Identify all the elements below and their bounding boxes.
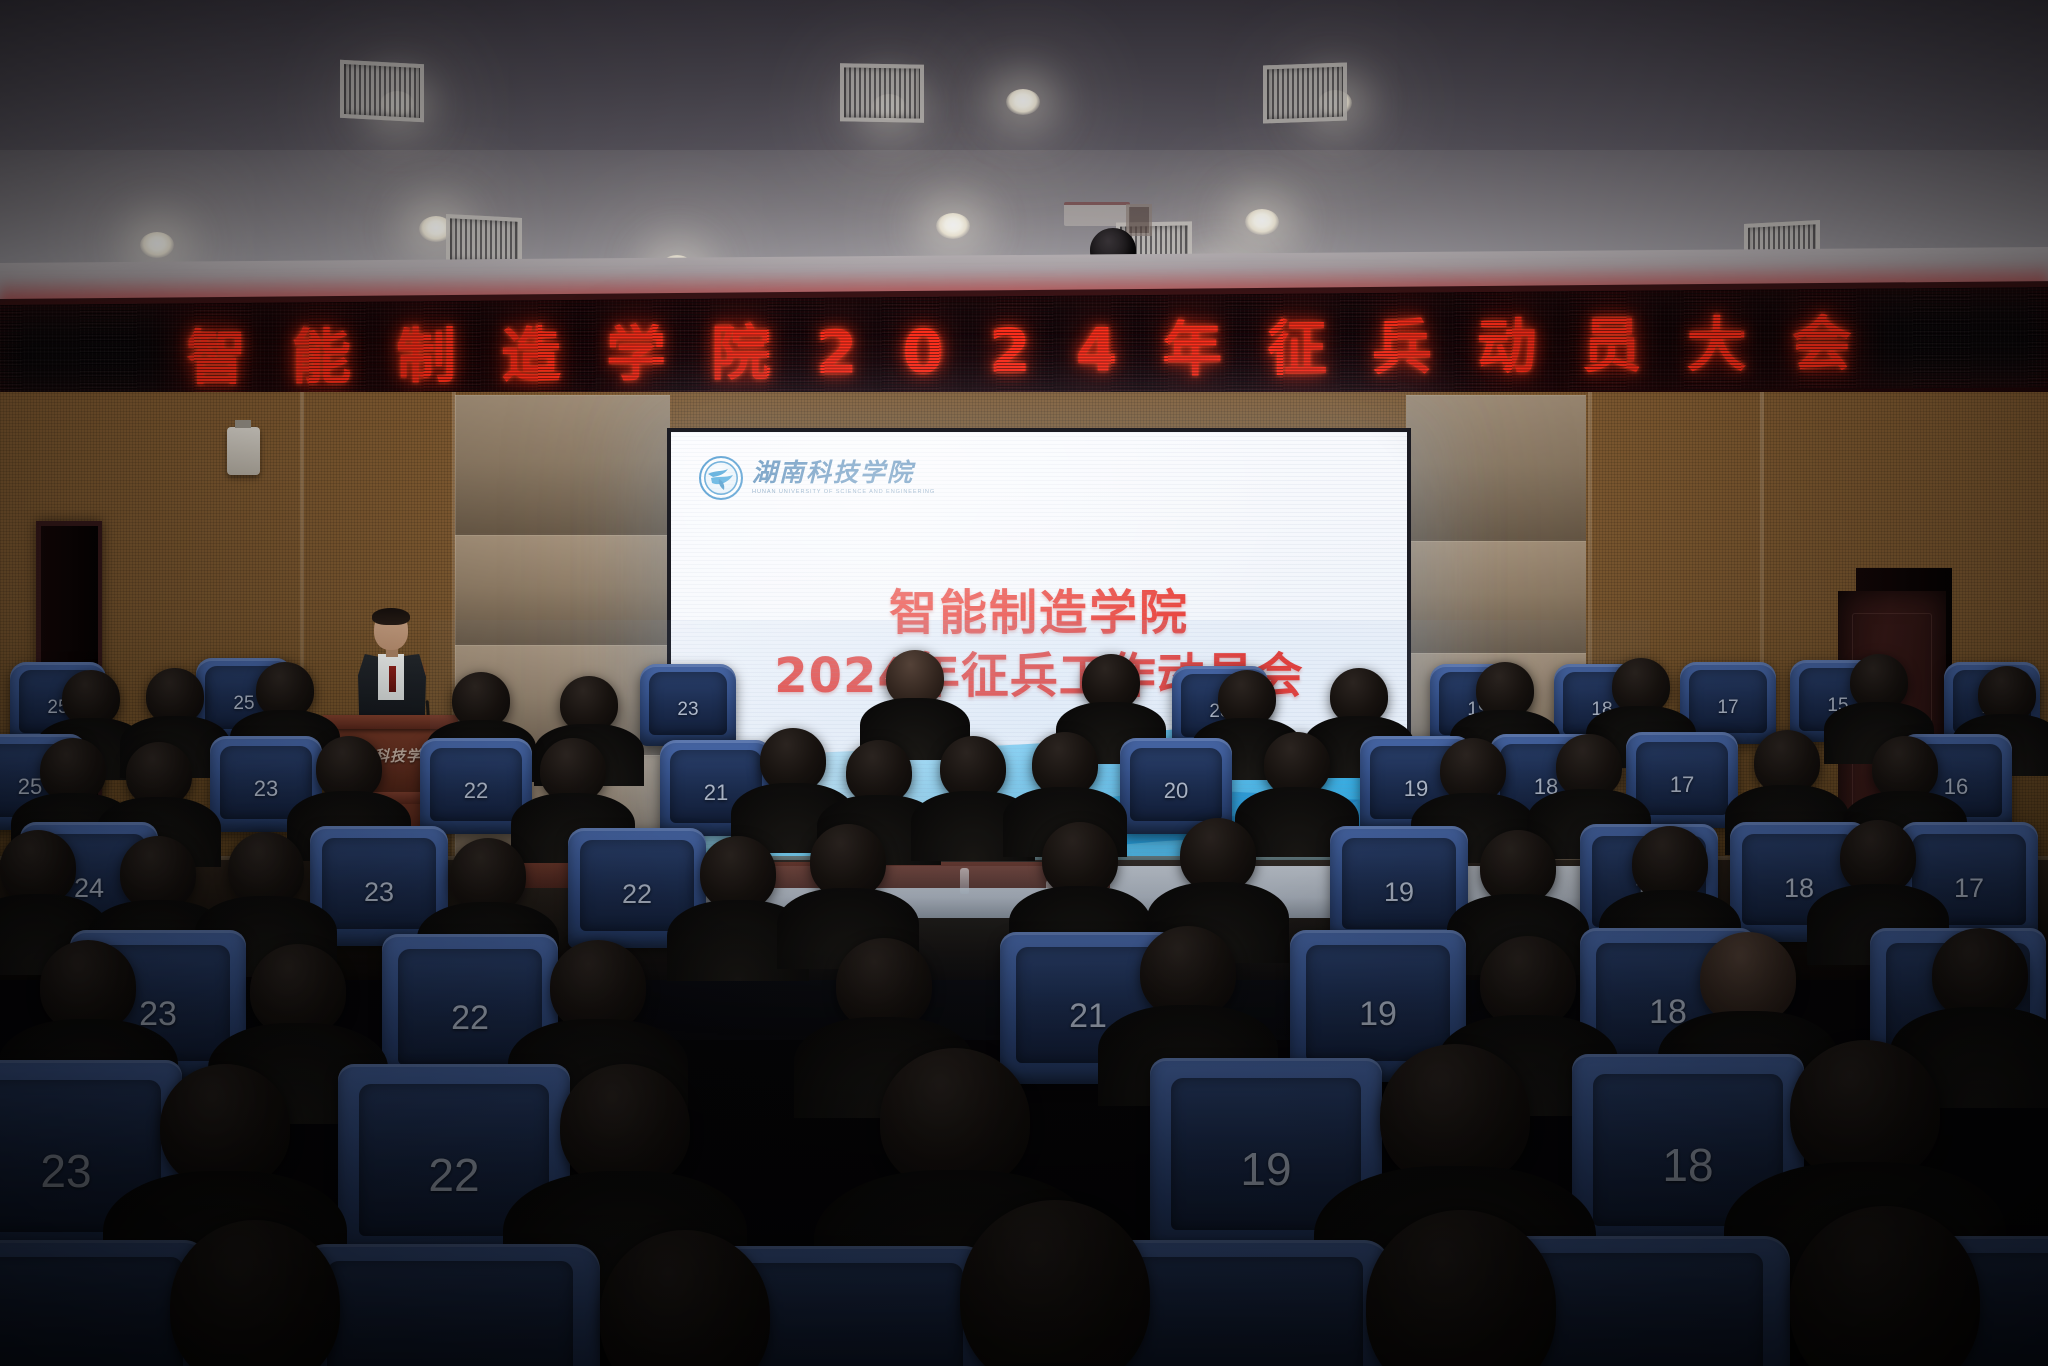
audience-head (452, 672, 510, 728)
audience-head (1140, 926, 1236, 1018)
audience-head (1872, 736, 1938, 800)
downlight-icon (1006, 89, 1040, 115)
audience-head (1480, 936, 1576, 1028)
audience-head (1840, 820, 1916, 894)
seat-number: 22 (382, 1001, 558, 1035)
seat-number: 22 (568, 881, 706, 908)
audience-head (886, 650, 944, 706)
wall-panel (1406, 541, 1586, 653)
audience-head (1476, 662, 1534, 718)
seat-number: 23 (310, 879, 448, 906)
audience-head (1330, 668, 1388, 724)
audience-head (146, 668, 204, 724)
audience-head (550, 940, 646, 1032)
audience-head (1790, 1040, 1940, 1182)
audience-head (810, 824, 886, 898)
ceiling-slab (0, 0, 2048, 150)
audience-head (940, 736, 1006, 800)
audience-head (1042, 822, 1118, 896)
downlight-icon (140, 232, 174, 258)
audience-head (1264, 732, 1330, 796)
audience-head (40, 940, 136, 1032)
slide-title-line1: 智能制造学院 (671, 582, 1407, 645)
crest-bird-glyph (706, 467, 736, 491)
audience-head (1082, 654, 1140, 710)
audience-head (1932, 928, 2028, 1020)
downlight-icon (1245, 209, 1279, 235)
table-row[interactable]: 23 (640, 664, 736, 746)
university-logo-text: 湖南科技学院 HUNAN UNIVERSITY OF SCIENCE AND E… (752, 461, 935, 495)
audience-head (160, 1064, 290, 1188)
ceiling-air-vent (340, 60, 424, 122)
seat-number: 23 (640, 700, 736, 719)
camera-junction-box (1126, 204, 1152, 236)
audience-head (846, 740, 912, 804)
audience-head (120, 836, 196, 910)
seat-number: 22 (420, 780, 532, 802)
university-logo: 湖南科技学院 HUNAN UNIVERSITY OF SCIENCE AND E… (699, 456, 935, 500)
ceiling-air-vent (1263, 63, 1347, 124)
audience-head (256, 662, 314, 718)
audience-head (62, 670, 120, 726)
audience-head (1180, 818, 1256, 892)
auditorium-photo: 智 能 制 造 学 院 2 0 2 4 年 征 兵 动 员 大 会 (0, 0, 2048, 1366)
wall-panel (1406, 395, 1586, 541)
audience-head (1480, 830, 1556, 904)
presenter-hair (372, 608, 410, 625)
audience-head (1218, 670, 1276, 726)
ceiling-air-vent (840, 63, 924, 122)
audience-head (0, 830, 76, 904)
audience-head (316, 736, 382, 800)
seat-number: 19 (1290, 997, 1466, 1031)
audience-head (760, 728, 826, 792)
audience-head (540, 738, 606, 802)
table-row[interactable] (300, 1244, 600, 1366)
wall-speaker-icon (227, 427, 260, 475)
audience-head (1032, 732, 1098, 796)
seat-number: 20 (1120, 780, 1232, 802)
audience-head (560, 1064, 690, 1188)
university-name-cn: 湖南科技学院 (752, 461, 935, 486)
audience-head (1850, 654, 1908, 710)
audience-head (836, 938, 932, 1030)
audience-head (228, 832, 304, 906)
audience-head (250, 944, 346, 1036)
audience-seating: 25 25 23 23 19 18 17 15 13 25 23 22 21 2… (0, 640, 2048, 1366)
wall-panel (455, 395, 670, 535)
university-name-en: HUNAN UNIVERSITY OF SCIENCE AND ENGINEER… (752, 489, 935, 495)
led-banner-text: 智 能 制 造 学 院 2 0 2 4 年 征 兵 动 员 大 会 (0, 293, 2048, 398)
audience-head (40, 738, 106, 802)
camera-mount-plate (1064, 202, 1130, 226)
audience-head (880, 1048, 1030, 1190)
downlight-icon (936, 213, 970, 239)
audience-head (1612, 658, 1670, 714)
seat-number: 23 (210, 778, 322, 800)
audience-head (1556, 734, 1622, 798)
seat-number: 17 (1626, 774, 1738, 796)
audience-head (126, 742, 192, 806)
audience-head (700, 836, 776, 910)
university-crest-icon (699, 456, 743, 500)
audience-head (1380, 1044, 1530, 1186)
audience-head (560, 676, 618, 732)
audience-head (1632, 826, 1708, 900)
audience-head (1700, 932, 1796, 1024)
audience-head (450, 838, 526, 912)
audience-head (1440, 738, 1506, 802)
led-banner: 智 能 制 造 学 院 2 0 2 4 年 征 兵 动 员 大 会 (0, 287, 2048, 405)
wall-panel (455, 535, 670, 645)
seat-number: 19 (1150, 1146, 1382, 1192)
water-bottle (960, 868, 969, 894)
seat-number: 19 (1330, 879, 1468, 906)
audience-head (1754, 730, 1820, 794)
seat-number: 17 (1680, 698, 1776, 717)
audience-head (1978, 666, 2036, 722)
